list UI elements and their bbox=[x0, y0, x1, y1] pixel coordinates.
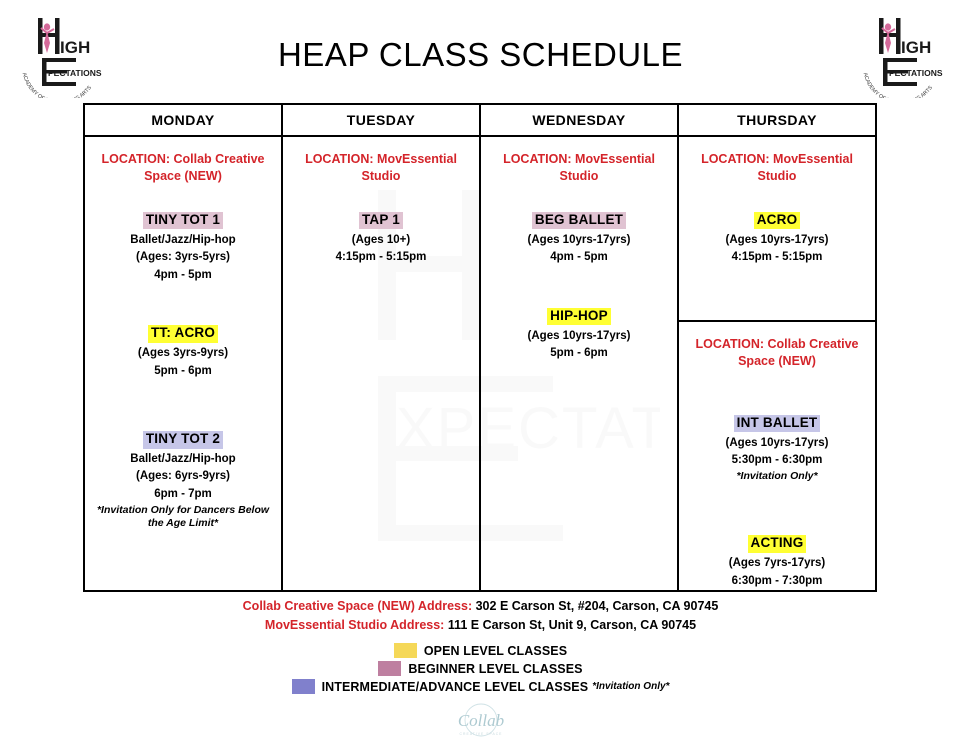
legend-label-intermediate: INTERMEDIATE/ADVANCE LEVEL CLASSES bbox=[322, 680, 589, 694]
svg-text:PECTATIONS: PECTATIONS bbox=[48, 68, 102, 78]
high-expectations-logo-icon: IGH PECTATIONS ACADEMY OF PERFORMING ART… bbox=[862, 18, 943, 98]
high-expectations-logo-icon: IGH PECTATIONS ACADEMY OF PERFORMING ART… bbox=[21, 18, 102, 98]
day-column-tuesday: LOCATION: MovEssential Studio TAP 1 (Age… bbox=[283, 137, 481, 590]
legend-item-intermediate: INTERMEDIATE/ADVANCE LEVEL CLASSES *Invi… bbox=[292, 678, 670, 695]
class-ages-acting: (Ages 7yrs-17yrs) bbox=[687, 556, 867, 572]
thursday-panel-bottom: LOCATION: Collab Creative Space (NEW) IN… bbox=[679, 322, 875, 595]
class-time-hip-hop: 5pm - 6pm bbox=[489, 346, 669, 362]
class-entry-tap-1[interactable]: TAP 1 (Ages 10+) 4:15pm - 5:15pm bbox=[291, 210, 471, 266]
class-note-int-ballet: *Invitation Only* bbox=[687, 470, 867, 484]
class-ages-acro: (Ages 10yrs-17yrs) bbox=[687, 233, 867, 249]
address-label-collab: Collab Creative Space (NEW) Address: bbox=[243, 599, 472, 613]
class-ages-int-ballet: (Ages 10yrs-17yrs) bbox=[687, 436, 867, 452]
day-column-monday: LOCATION: Collab Creative Space (NEW) TI… bbox=[85, 137, 283, 590]
class-time-tiny-tot-2: 6pm - 7pm bbox=[93, 487, 273, 503]
legend-label-beginner: BEGINNER LEVEL CLASSES bbox=[408, 662, 582, 676]
legend: OPEN LEVEL CLASSES BEGINNER LEVEL CLASSE… bbox=[0, 642, 961, 696]
page-title: HEAP CLASS SCHEDULE bbox=[0, 36, 961, 74]
address-label-movessential: MovEssential Studio Address: bbox=[265, 618, 444, 632]
class-entry-beg-ballet[interactable]: BEG BALLET (Ages 10yrs-17yrs) 4pm - 5pm bbox=[489, 210, 669, 266]
class-time-int-ballet: 5:30pm - 6:30pm bbox=[687, 453, 867, 469]
address-value-collab: 302 E Carson St, #204, Carson, CA 90745 bbox=[476, 599, 719, 613]
monday-panel: LOCATION: Collab Creative Space (NEW) TI… bbox=[85, 137, 281, 537]
logo-left: IGH PECTATIONS ACADEMY OF PERFORMING ART… bbox=[14, 6, 106, 98]
collab-creative-space-logo: Collab CREATIVE SPACE bbox=[0, 702, 961, 738]
class-name-int-ballet: INT BALLET bbox=[734, 415, 821, 432]
schedule-page: XPECTATIONS IGH PECTATIONS bbox=[0, 0, 961, 740]
class-time-tt-acro: 5pm - 6pm bbox=[93, 364, 273, 380]
class-style-tiny-tot-2: Ballet/Jazz/Hip-hop bbox=[93, 452, 273, 468]
legend-item-beginner: BEGINNER LEVEL CLASSES bbox=[378, 660, 582, 677]
day-column-wednesday: LOCATION: MovEssential Studio BEG BALLET… bbox=[481, 137, 679, 590]
wednesday-location: LOCATION: MovEssential Studio bbox=[489, 151, 669, 184]
class-name-acro: ACRO bbox=[754, 212, 801, 229]
class-name-tiny-tot-2: TINY TOT 2 bbox=[143, 431, 223, 448]
table-header-row: MONDAY TUESDAY WEDNESDAY THURSDAY bbox=[85, 105, 875, 137]
class-name-beg-ballet: BEG BALLET bbox=[532, 212, 626, 229]
collab-sub-text: CREATIVE SPACE bbox=[459, 732, 502, 736]
legend-item-open: OPEN LEVEL CLASSES bbox=[394, 642, 567, 659]
thursday-location-bottom: LOCATION: Collab Creative Space (NEW) bbox=[687, 336, 867, 369]
class-entry-acting[interactable]: ACTING (Ages 7yrs-17yrs) 6:30pm - 7:30pm bbox=[687, 533, 867, 589]
class-style-tiny-tot-1: Ballet/Jazz/Hip-hop bbox=[93, 233, 273, 249]
legend-note-intermediate: *Invitation Only* bbox=[592, 681, 669, 692]
class-entry-tiny-tot-1[interactable]: TINY TOT 1 Ballet/Jazz/Hip-hop (Ages: 3y… bbox=[93, 210, 273, 283]
class-entry-hip-hop[interactable]: HIP-HOP (Ages 10yrs-17yrs) 5pm - 6pm bbox=[489, 306, 669, 362]
legend-swatch-open-icon bbox=[394, 643, 417, 658]
tuesday-panel: LOCATION: MovEssential Studio TAP 1 (Age… bbox=[283, 137, 479, 272]
column-header-wednesday: WEDNESDAY bbox=[481, 105, 679, 135]
class-time-acting: 6:30pm - 7:30pm bbox=[687, 574, 867, 590]
legend-label-open: OPEN LEVEL CLASSES bbox=[424, 644, 567, 658]
class-ages-beg-ballet: (Ages 10yrs-17yrs) bbox=[489, 233, 669, 249]
collab-script-text: Collab bbox=[457, 711, 503, 730]
class-ages-tap-1: (Ages 10+) bbox=[291, 233, 471, 249]
thursday-panel-top: LOCATION: MovEssential Studio ACRO (Ages… bbox=[679, 137, 875, 322]
svg-text:IGH: IGH bbox=[901, 38, 931, 57]
class-time-tap-1: 4:15pm - 5:15pm bbox=[291, 250, 471, 266]
column-header-thursday: THURSDAY bbox=[679, 105, 875, 135]
class-ages-tt-acro: (Ages 3yrs-9yrs) bbox=[93, 346, 273, 362]
address-line-movessential: MovEssential Studio Address: 111 E Carso… bbox=[0, 616, 961, 635]
class-entry-acro[interactable]: ACRO (Ages 10yrs-17yrs) 4:15pm - 5:15pm bbox=[687, 210, 867, 266]
schedule-table: MONDAY TUESDAY WEDNESDAY THURSDAY LOCATI… bbox=[83, 103, 877, 592]
class-entry-tiny-tot-2[interactable]: TINY TOT 2 Ballet/Jazz/Hip-hop (Ages: 6y… bbox=[93, 429, 273, 531]
thursday-location-top: LOCATION: MovEssential Studio bbox=[687, 151, 867, 184]
class-note-tiny-tot-2: *Invitation Only for Dancers Below the A… bbox=[93, 504, 273, 531]
column-header-tuesday: TUESDAY bbox=[283, 105, 481, 135]
class-entry-tt-acro[interactable]: TT: ACRO (Ages 3yrs-9yrs) 5pm - 6pm bbox=[93, 323, 273, 379]
logo-right: IGH PECTATIONS ACADEMY OF PERFORMING ART… bbox=[855, 6, 947, 98]
legend-swatch-intermediate-icon bbox=[292, 679, 315, 694]
legend-swatch-beginner-icon bbox=[378, 661, 401, 676]
tuesday-location: LOCATION: MovEssential Studio bbox=[291, 151, 471, 184]
svg-text:PECTATIONS: PECTATIONS bbox=[889, 68, 943, 78]
monday-location: LOCATION: Collab Creative Space (NEW) bbox=[93, 151, 273, 184]
class-name-hip-hop: HIP-HOP bbox=[547, 308, 611, 325]
column-header-monday: MONDAY bbox=[85, 105, 283, 135]
class-time-acro: 4:15pm - 5:15pm bbox=[687, 250, 867, 266]
class-ages-tiny-tot-1: (Ages: 3yrs-5yrs) bbox=[93, 250, 273, 266]
class-entry-int-ballet[interactable]: INT BALLET (Ages 10yrs-17yrs) 5:30pm - 6… bbox=[687, 413, 867, 483]
address-line-collab: Collab Creative Space (NEW) Address: 302… bbox=[0, 597, 961, 616]
table-body-row: LOCATION: Collab Creative Space (NEW) TI… bbox=[85, 137, 875, 590]
class-name-acting: ACTING bbox=[748, 535, 807, 552]
class-ages-tiny-tot-2: (Ages: 6yrs-9yrs) bbox=[93, 469, 273, 485]
wednesday-panel: LOCATION: MovEssential Studio BEG BALLET… bbox=[481, 137, 677, 368]
class-name-tap-1: TAP 1 bbox=[359, 212, 403, 229]
class-name-tiny-tot-1: TINY TOT 1 bbox=[143, 212, 223, 229]
class-time-beg-ballet: 4pm - 5pm bbox=[489, 250, 669, 266]
svg-text:IGH: IGH bbox=[60, 38, 90, 57]
address-value-movessential: 111 E Carson St, Unit 9, Carson, CA 9074… bbox=[448, 618, 696, 632]
class-name-tt-acro: TT: ACRO bbox=[148, 325, 218, 342]
day-column-thursday: LOCATION: MovEssential Studio ACRO (Ages… bbox=[679, 137, 875, 590]
address-block: Collab Creative Space (NEW) Address: 302… bbox=[0, 597, 961, 636]
class-time-tiny-tot-1: 4pm - 5pm bbox=[93, 268, 273, 284]
class-ages-hip-hop: (Ages 10yrs-17yrs) bbox=[489, 329, 669, 345]
